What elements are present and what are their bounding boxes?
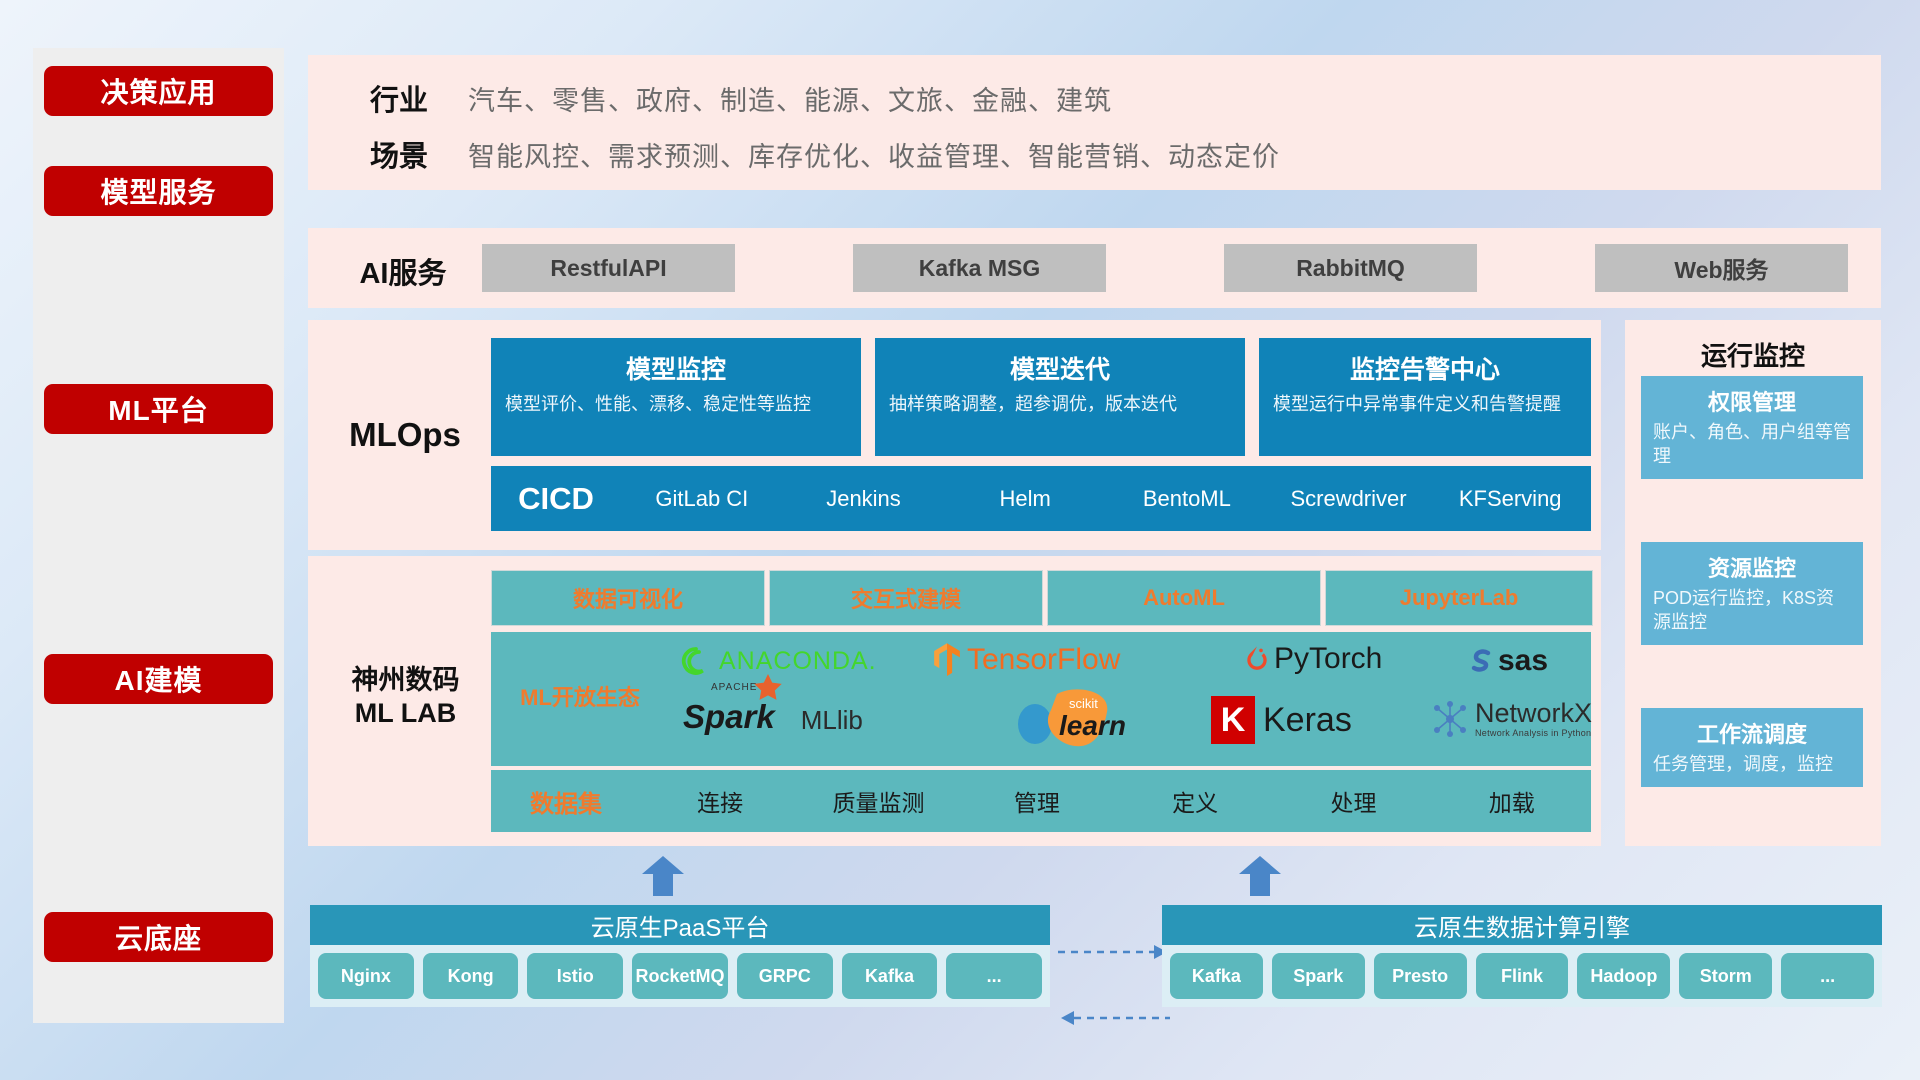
engine-chip-presto[interactable]: Presto [1374, 953, 1467, 999]
engine-chip-storm[interactable]: Storm [1679, 953, 1772, 999]
tensorflow-mark-icon [931, 642, 963, 678]
up-arrow-engine-icon [1237, 856, 1283, 896]
service-chip-web[interactable]: Web服务 [1595, 244, 1848, 292]
monitoring-card-workflow[interactable]: 工作流调度 任务管理，调度，监控 [1641, 708, 1863, 787]
spark-wordmark: Spark [683, 698, 775, 735]
paas-chip-more[interactable]: ... [946, 953, 1042, 999]
data-engine-chip-row: Kafka Spark Presto Flink Hadoop Storm ..… [1162, 945, 1882, 1007]
keras-wordmark: Keras [1263, 701, 1352, 740]
cicd-item-screwdriver[interactable]: Screwdriver [1268, 487, 1430, 510]
sas-logo: sas [1466, 644, 1548, 678]
mlops-card-desc: 抽样策略调整，超参调优，版本迭代 [875, 390, 1245, 419]
paas-title: 云原生PaaS平台 [310, 905, 1050, 945]
mlops-card-title: 模型迭代 [875, 338, 1245, 390]
engine-chip-flink[interactable]: Flink [1476, 953, 1569, 999]
networkx-wordmark: NetworkX [1475, 700, 1592, 727]
ml-lab-label: 神州数码 ML LAB [328, 664, 483, 730]
ml-ecosystem-band: ML开放生态 ANACONDA. TensorFlow [491, 632, 1591, 766]
scikit-learn-text: learn [1059, 710, 1126, 742]
monitoring-card-title: 工作流调度 [1641, 708, 1863, 753]
rail-chip-model-serve[interactable]: 模型服务 [44, 166, 273, 216]
networkx-mark-icon [1431, 700, 1469, 738]
mllib-wordmark: MLlib [801, 705, 863, 736]
paas-chip-nginx[interactable]: Nginx [318, 953, 414, 999]
cicd-title: CICD [491, 481, 621, 517]
dataset-item-quality[interactable]: 质量监测 [799, 784, 957, 818]
paas-chip-kafka[interactable]: Kafka [842, 953, 938, 999]
lab-tool-jupyterlab[interactable]: JupyterLab [1325, 570, 1593, 626]
rail-chip-decision[interactable]: 决策应用 [44, 66, 273, 116]
ai-service-panel: AI服务 RestfulAPI Kafka MSG RabbitMQ Web服务 [308, 228, 1881, 308]
dataset-item-connect[interactable]: 连接 [641, 784, 799, 818]
industry-value: 汽车、零售、政府、制造、能源、文旅、金融、建筑 [468, 79, 1112, 118]
mlops-card-alert-center[interactable]: 监控告警中心 模型运行中异常事件定义和告警提醒 [1259, 338, 1591, 456]
dataset-item-define[interactable]: 定义 [1116, 784, 1274, 818]
monitoring-card-title: 资源监控 [1641, 542, 1863, 587]
dataset-item-process[interactable]: 处理 [1274, 784, 1432, 818]
rail-chip-ai-modeling[interactable]: AI建模 [44, 654, 273, 704]
architecture-diagram: 决策应用 模型服务 ML平台 AI建模 云底座 行业 汽车、零售、政府、制造、能… [0, 0, 1920, 1080]
ml-ecosystem-label: ML开放生态 [505, 680, 655, 712]
keras-mark-icon: K [1211, 696, 1255, 744]
mlops-panel: MLOps 模型监控 模型评价、性能、漂移、稳定性等监控 模型迭代 抽样策略调整… [308, 320, 1601, 550]
paas-chip-grpc[interactable]: GRPC [737, 953, 833, 999]
sas-mark-icon [1466, 646, 1496, 676]
cicd-item-kfserving[interactable]: KFServing [1429, 487, 1591, 510]
anaconda-mark-icon [681, 646, 711, 676]
tensorflow-wordmark: TensorFlow [967, 643, 1120, 677]
data-engine-box: 云原生数据计算引擎 Kafka Spark Presto Flink Hadoo… [1162, 905, 1882, 1007]
dataset-bar: 数据集 连接 质量监测 管理 定义 处理 加载 [491, 770, 1591, 832]
networkx-logo: NetworkX Network Analysis in Python [1431, 700, 1592, 738]
paas-chip-istio[interactable]: Istio [527, 953, 623, 999]
service-chip-kafka-msg[interactable]: Kafka MSG [853, 244, 1106, 292]
paas-chip-rocketmq[interactable]: RocketMQ [632, 953, 728, 999]
dataset-item-load[interactable]: 加载 [1433, 784, 1591, 818]
tensorflow-logo: TensorFlow [931, 642, 1120, 678]
spark-star-icon [751, 672, 785, 702]
mlops-card-title: 监控告警中心 [1259, 338, 1591, 390]
lab-tool-interactive-modeling[interactable]: 交互式建模 [769, 570, 1043, 626]
engine-chip-more[interactable]: ... [1781, 953, 1874, 999]
dataset-item-manage[interactable]: 管理 [958, 784, 1116, 818]
service-chip-rabbitmq[interactable]: RabbitMQ [1224, 244, 1477, 292]
cicd-bar: CICD GitLab CI Jenkins Helm BentoML Scre… [491, 466, 1591, 531]
data-engine-title: 云原生数据计算引擎 [1162, 905, 1882, 945]
cicd-item-gitlab-ci[interactable]: GitLab CI [621, 487, 783, 510]
monitoring-card-desc: 账户、角色、用户组等管理 [1641, 421, 1863, 479]
ml-lab-label-line1: 神州数码 [328, 664, 483, 697]
lab-tool-automl[interactable]: AutoML [1047, 570, 1321, 626]
anaconda-wordmark: ANACONDA. [719, 647, 877, 676]
ml-lab-label-line2: ML LAB [328, 697, 483, 730]
service-chip-restfulapi[interactable]: RestfulAPI [482, 244, 735, 292]
dashed-arrow-right-icon [1058, 940, 1170, 964]
keras-logo: K Keras [1211, 696, 1352, 744]
monitoring-card-permission[interactable]: 权限管理 账户、角色、用户组等管理 [1641, 376, 1863, 479]
mlops-card-desc: 模型运行中异常事件定义和告警提醒 [1259, 390, 1591, 419]
application-panel: 行业 汽车、零售、政府、制造、能源、文旅、金融、建筑 场景 智能风控、需求预测、… [308, 55, 1881, 190]
engine-chip-spark[interactable]: Spark [1272, 953, 1365, 999]
monitoring-card-resource[interactable]: 资源监控 POD运行监控，K8S资源监控 [1641, 542, 1863, 645]
dashed-arrow-left-icon [1058, 1006, 1170, 1030]
monitoring-card-title: 权限管理 [1641, 376, 1863, 421]
scene-label: 场景 [344, 133, 454, 175]
mlops-card-desc: 模型评价、性能、漂移、稳定性等监控 [491, 390, 861, 419]
engine-chip-hadoop[interactable]: Hadoop [1577, 953, 1670, 999]
mlops-label: MLOps [330, 380, 480, 490]
paas-chip-row: Nginx Kong Istio RocketMQ GRPC Kafka ... [310, 945, 1050, 1007]
rail-chip-ml-platform[interactable]: ML平台 [44, 384, 273, 434]
pytorch-mark-icon [1244, 643, 1270, 675]
sas-wordmark: sas [1498, 644, 1548, 678]
paas-box: 云原生PaaS平台 Nginx Kong Istio RocketMQ GRPC… [310, 905, 1050, 1007]
monitoring-card-desc: 任务管理，调度，监控 [1641, 753, 1863, 787]
up-arrow-paas-icon [640, 856, 686, 896]
mlops-card-model-monitoring[interactable]: 模型监控 模型评价、性能、漂移、稳定性等监控 [491, 338, 861, 456]
networkx-subtitle: Network Analysis in Python [1475, 729, 1592, 738]
ai-service-label: AI服务 [344, 250, 462, 292]
spark-mllib-logo: APACHE Spark MLlib [683, 698, 863, 736]
engine-chip-kafka[interactable]: Kafka [1170, 953, 1263, 999]
cicd-item-helm[interactable]: Helm [944, 487, 1106, 510]
mlops-card-model-iteration[interactable]: 模型迭代 抽样策略调整，超参调优，版本迭代 [875, 338, 1245, 456]
scikit-top-text: scikit [1069, 696, 1098, 711]
ml-lab-panel: 神州数码 ML LAB 数据可视化 交互式建模 AutoML JupyterLa… [308, 556, 1601, 846]
pytorch-logo: PyTorch [1244, 642, 1382, 676]
paas-chip-kong[interactable]: Kong [423, 953, 519, 999]
cicd-item-bentoml[interactable]: BentoML [1106, 487, 1268, 510]
mlops-card-title: 模型监控 [491, 338, 861, 390]
monitoring-card-desc: POD运行监控，K8S资源监控 [1641, 587, 1863, 645]
cicd-item-jenkins[interactable]: Jenkins [783, 487, 945, 510]
monitoring-panel: 运行监控 权限管理 账户、角色、用户组等管理 资源监控 POD运行监控，K8S资… [1625, 320, 1881, 846]
layer-rail: 决策应用 模型服务 ML平台 AI建模 云底座 [33, 48, 284, 1023]
rail-chip-cloud-base[interactable]: 云底座 [44, 912, 273, 962]
monitoring-title: 运行监控 [1625, 320, 1881, 373]
scene-value: 智能风控、需求预测、库存优化、收益管理、智能营销、动态定价 [468, 135, 1280, 174]
dataset-title: 数据集 [491, 784, 641, 819]
industry-label: 行业 [344, 77, 454, 119]
pytorch-wordmark: PyTorch [1274, 642, 1382, 676]
lab-tool-data-visualization[interactable]: 数据可视化 [491, 570, 765, 626]
